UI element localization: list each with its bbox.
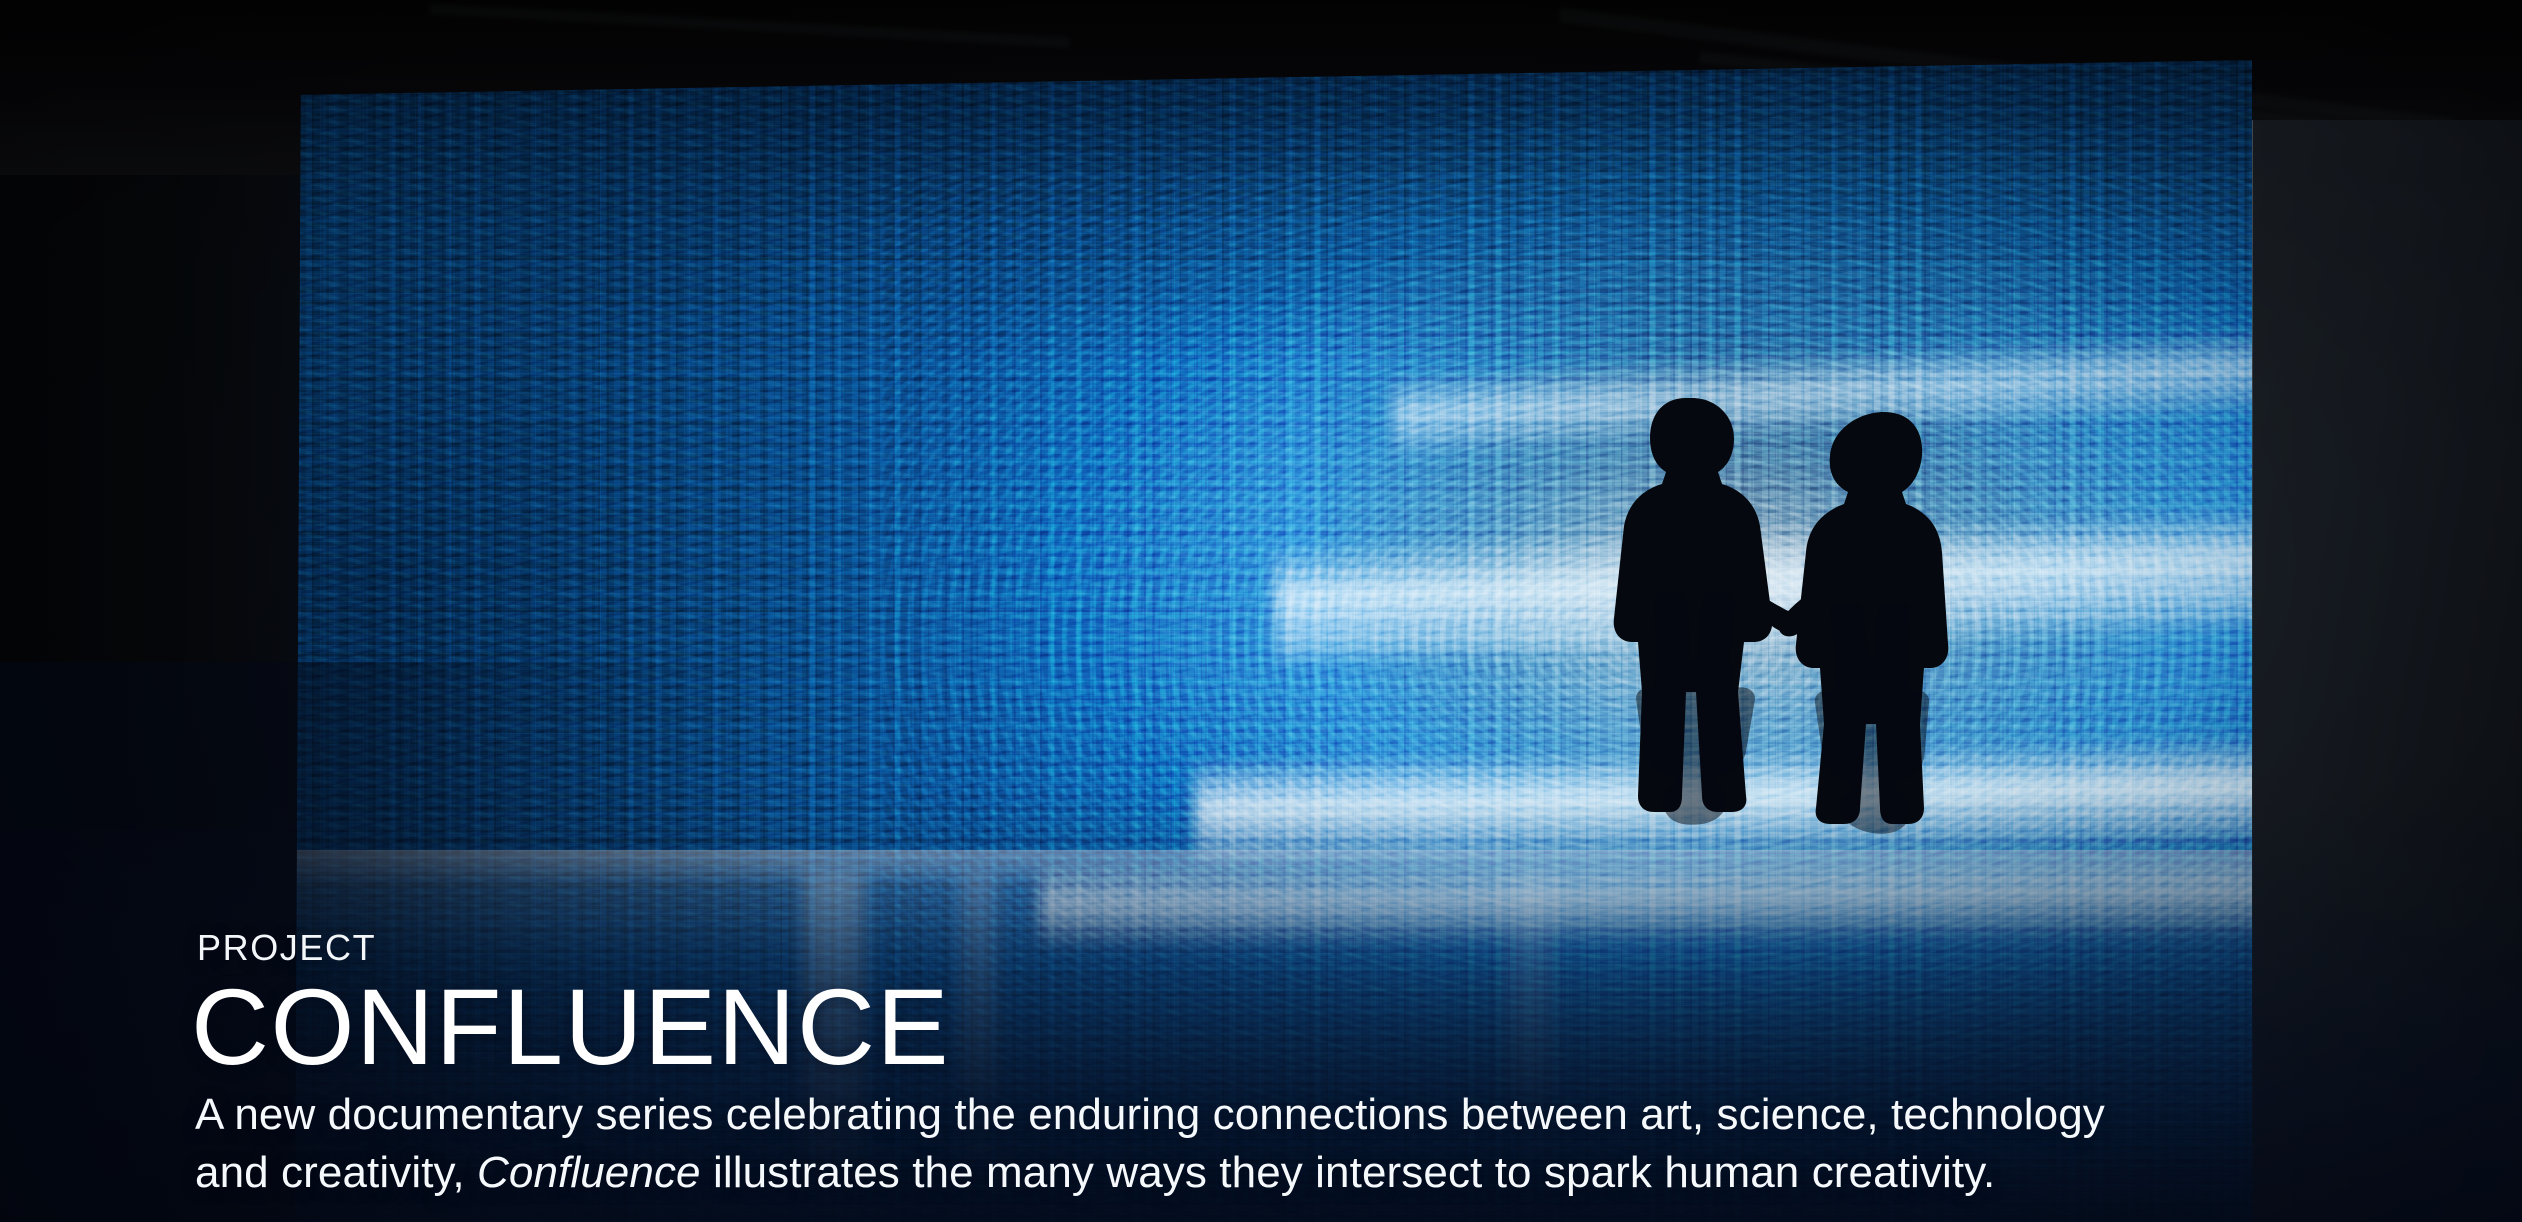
scene-container: PROJECT CONFLUENCE A new documentary ser…	[0, 0, 2522, 1222]
description-line-1: A new documentary series celebrating the…	[195, 1090, 2105, 1139]
right-wall	[2250, 120, 2522, 1222]
page-title: CONFLUENCE	[191, 972, 2195, 1082]
ceiling-beam	[430, 4, 1070, 47]
eyebrow-label: PROJECT	[197, 930, 2195, 966]
description-line-2-prefix: and creativity,	[195, 1148, 477, 1197]
title-overlay: PROJECT CONFLUENCE A new documentary ser…	[195, 930, 2195, 1202]
series-title-italic: Confluence	[477, 1148, 701, 1197]
description-text: A new documentary series celebrating the…	[195, 1086, 2155, 1202]
description-line-2-suffix: illustrates the many ways they intersect…	[701, 1148, 1996, 1197]
